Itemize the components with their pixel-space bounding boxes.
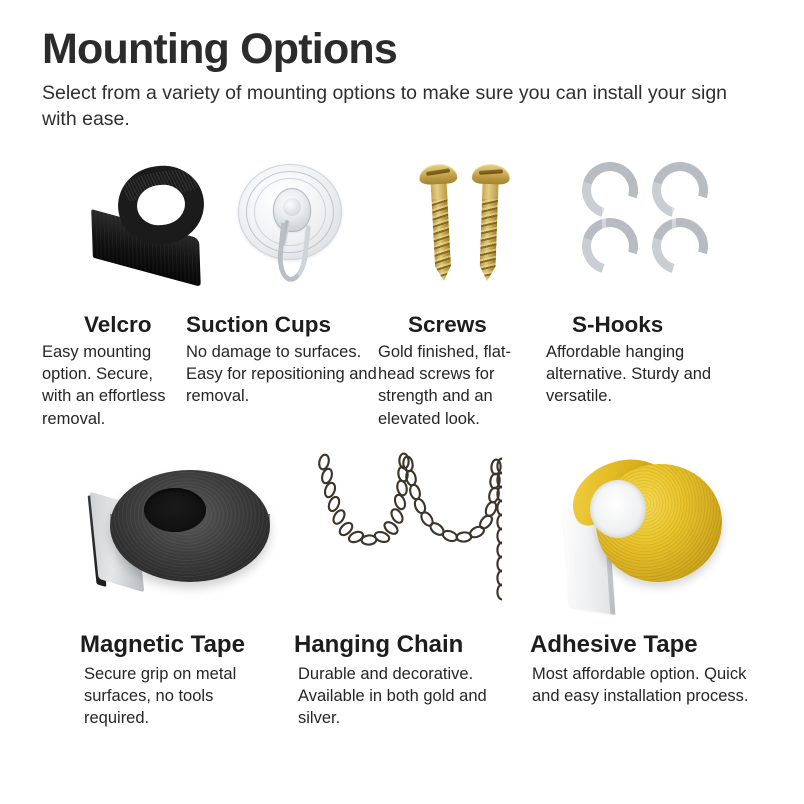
flat-head-screws-icon [414, 164, 534, 298]
option-desc-magnetic-tape: Secure grip on metal surfaces, no tools … [84, 663, 278, 729]
mounting-options-page: Mounting Options Select from a variety o… [0, 0, 804, 804]
page-subtitle: Select from a variety of mounting option… [42, 81, 742, 132]
option-card-adhesive-tape[interactable]: Adhesive Tape Most affordable option. Qu… [518, 452, 758, 729]
option-card-screws[interactable]: Screws Gold finished, flat-head screws f… [378, 160, 546, 430]
option-title-hanging-chain: Hanging Chain [294, 632, 518, 659]
option-desc-hanging-chain: Durable and decorative. Available in bot… [298, 663, 518, 729]
magnetic-tape-art [42, 452, 278, 622]
page-title: Mounting Options [42, 28, 772, 71]
option-title-screws: Screws [408, 312, 546, 337]
options-row-1: Velcro Easy mounting option. Secure, wit… [0, 160, 804, 430]
option-title-magnetic-tape: Magnetic Tape [80, 632, 278, 659]
velcro-art [42, 160, 182, 300]
option-title-suction-cups: Suction Cups [186, 312, 378, 337]
option-card-hanging-chain[interactable]: Hanging Chain Durable and decorative. Av… [278, 452, 518, 729]
magnetic-tape-roll-icon [88, 460, 278, 620]
option-desc-suction-cups: No damage to surfaces. Easy for repositi… [186, 341, 378, 407]
screws-art [378, 160, 546, 300]
options-row-2: Magnetic Tape Secure grip on metal surfa… [0, 452, 804, 729]
option-card-s-hooks[interactable]: S-Hooks Affordable hanging alternative. … [546, 160, 762, 430]
option-title-s-hooks: S-Hooks [572, 312, 762, 337]
page-header: Mounting Options Select from a variety o… [42, 28, 772, 132]
option-card-velcro[interactable]: Velcro Easy mounting option. Secure, wit… [0, 160, 182, 430]
s-hooks-art [546, 160, 762, 300]
option-title-adhesive-tape: Adhesive Tape [530, 632, 758, 659]
adhesive-tape-art [518, 452, 758, 622]
option-desc-s-hooks: Affordable hanging alternative. Sturdy a… [546, 341, 762, 407]
option-title-velcro: Velcro [84, 312, 182, 337]
adhesive-tape-roll-icon [556, 458, 746, 620]
suction-cup-art [186, 160, 378, 300]
option-desc-adhesive-tape: Most affordable option. Quick and easy i… [532, 663, 758, 707]
s-hooks-icon [574, 162, 734, 298]
option-desc-screws: Gold finished, flat-head screws for stre… [378, 341, 546, 429]
option-card-suction-cups[interactable]: Suction Cups No damage to surfaces. Easy… [182, 160, 378, 430]
hanging-chain-icon [302, 452, 502, 624]
option-desc-velcro: Easy mounting option. Secure, with an ef… [42, 341, 182, 429]
option-card-magnetic-tape[interactable]: Magnetic Tape Secure grip on metal surfa… [0, 452, 278, 729]
hanging-chain-art [278, 452, 518, 622]
suction-cup-hook-icon [230, 162, 350, 300]
